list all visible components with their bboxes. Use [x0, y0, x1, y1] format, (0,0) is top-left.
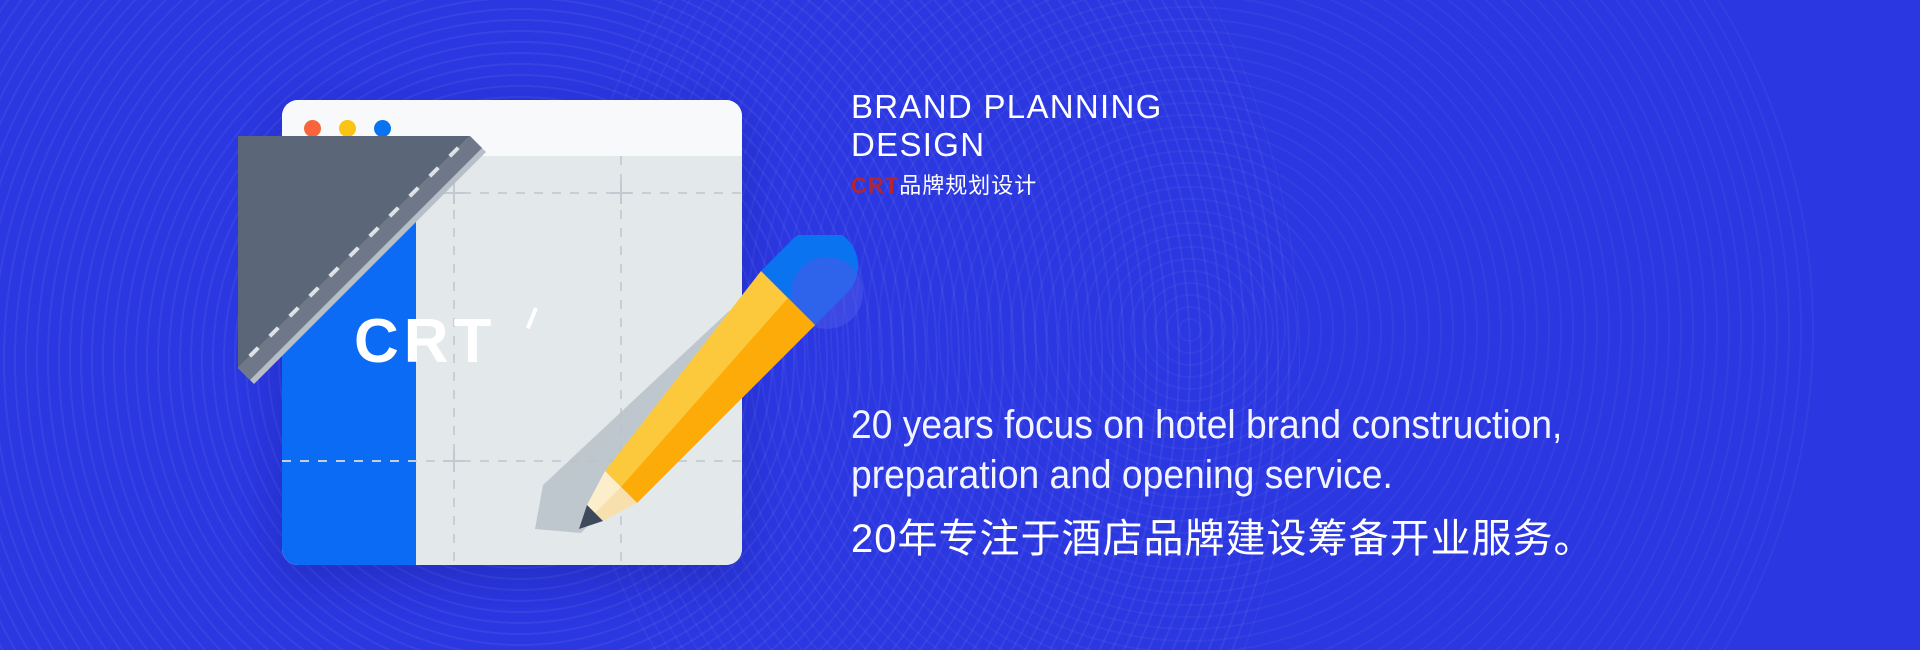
tagline-english-line-2: preparation and opening service. — [851, 450, 1632, 500]
subheading-brand: CRT — [851, 173, 899, 198]
tagline-chinese: 20年专注于酒店品牌建设筹备开业服务。 — [851, 514, 1691, 564]
heading-line-2: DESIGN — [851, 126, 1163, 164]
subheading: CRT品牌规划设计 — [851, 173, 1163, 199]
tagline-block: 20 years focus on hotel brand constructi… — [851, 400, 1691, 564]
guide-crosshair — [443, 450, 465, 472]
heading-block: BRAND PLANNING DESIGN CRT品牌规划设计 — [851, 88, 1163, 199]
guide-crosshair — [610, 182, 632, 204]
tagline-english-line-1: 20 years focus on hotel brand constructi… — [851, 400, 1632, 450]
triangle-ruler-icon — [230, 128, 500, 398]
subheading-chinese: 品牌规划设计 — [899, 173, 1037, 198]
illustration: CRT — [230, 60, 850, 600]
heading-line-1: BRAND PLANNING — [851, 88, 1163, 126]
pencil-icon — [575, 235, 875, 535]
brand-planning-banner: CRT — [0, 0, 1920, 650]
